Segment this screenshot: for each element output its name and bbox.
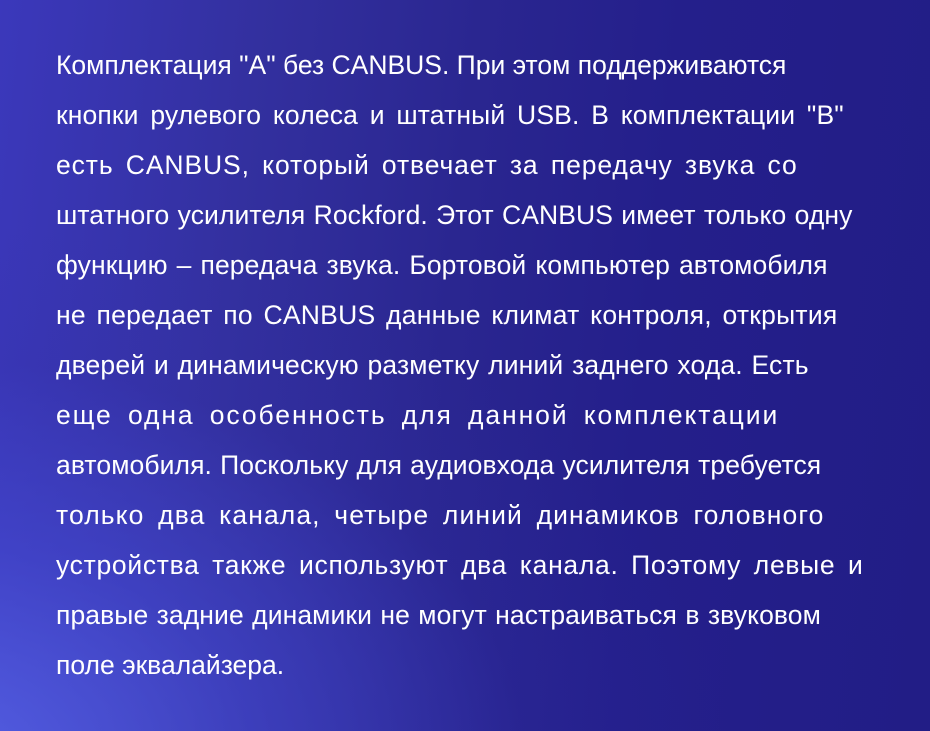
paragraph: Комплектация "A" без CANBUS. При этом по… <box>56 40 876 690</box>
text-line: устройства также используют два канала. … <box>56 540 876 590</box>
text-line: штатного усилителя Rockford. Этот CANBUS… <box>56 190 876 240</box>
text-line: есть CANBUS, который отвечает за передач… <box>56 140 876 190</box>
slide-background: Комплектация "A" без CANBUS. При этом по… <box>0 0 930 731</box>
text-line: автомобиля. Поскольку для аудиовхода уси… <box>56 440 876 490</box>
text-line: кнопки рулевого колеса и штатный USB. В … <box>56 90 876 140</box>
text-line: Комплектация "A" без CANBUS. При этом по… <box>56 40 876 90</box>
text-line: дверей и динамическую разметку линий зад… <box>56 340 876 390</box>
text-line: еще одна особенность для данной комплект… <box>56 390 876 440</box>
text-line: поле эквалайзера. <box>56 640 876 690</box>
text-line: правые задние динамики не могут настраив… <box>56 590 876 640</box>
text-line: функцию – передача звука. Бортовой компь… <box>56 240 876 290</box>
text-line: не передает по CANBUS данные климат конт… <box>56 290 876 340</box>
text-block: Комплектация "A" без CANBUS. При этом по… <box>56 40 876 690</box>
text-line: только два канала, четыре линий динамико… <box>56 490 876 540</box>
